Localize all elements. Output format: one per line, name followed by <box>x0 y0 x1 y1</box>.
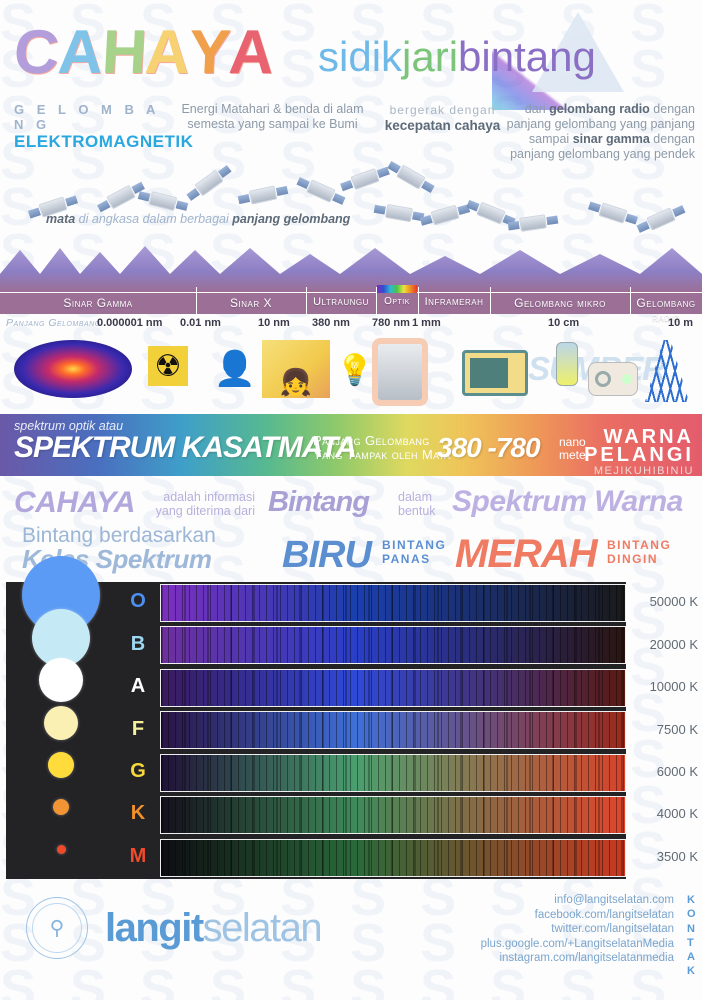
spectral-class-label-F: F <box>116 718 160 741</box>
band-divider <box>306 287 307 315</box>
bentuk-line: bentuk <box>398 504 446 518</box>
temperature-label-K: 4000 K <box>630 806 698 821</box>
contact-item[interactable]: info@langitselatan.com <box>481 893 674 908</box>
radiation-xray-icon: ☢ <box>148 346 188 386</box>
bintang-word: Bintang <box>268 486 369 519</box>
temperature-label-A: 10000 K <box>630 679 698 694</box>
brand-selatan: selatan <box>203 906 321 950</box>
absorption-lines <box>161 755 625 791</box>
radio-receiver-icon <box>588 362 638 396</box>
absorption-lines <box>161 585 625 621</box>
temperature-label-G: 6000 K <box>630 764 698 779</box>
bintang-dingin-text: BINTANG DINGIN <box>607 538 671 566</box>
spectral-class-label-O: O <box>116 590 160 613</box>
wavelength-value: 0.000001 nm <box>97 317 162 329</box>
intro-energy: Energi Matahari & benda di alam semesta … <box>175 102 370 132</box>
contact-item[interactable]: plus.google.com/+LangitselatanMedia <box>481 937 674 952</box>
satellite-icon <box>249 185 277 204</box>
panjang-gelombang-caption: Panjang Gelombang Yang Tampak oleh Mata <box>313 434 450 462</box>
contact-item[interactable]: instagram.com/langitselatanmedia <box>481 951 674 966</box>
title-letter-4: Y <box>188 22 232 84</box>
contact-list[interactable]: info@langitselatan.comfacebook.com/langi… <box>481 893 674 966</box>
wavelength-axis-label: Panjang Gelombang <box>6 317 101 329</box>
heater-icon <box>378 344 422 400</box>
visible-spectrum-banner: spektrum optik atau SPEKTRUM KASATMATA P… <box>0 414 702 476</box>
panjang-line-2: Yang Tampak oleh Mata <box>313 448 450 462</box>
satellite-icon <box>431 205 460 226</box>
absorption-lines <box>161 627 625 663</box>
satellite-icon <box>149 191 178 211</box>
band-label-gelombang-mikro: Gelombang mikro <box>490 296 630 310</box>
spektrum-kasatmata-title: SPEKTRUM KASATMATA <box>14 431 356 465</box>
mobile-phone-icon <box>556 342 578 386</box>
wavelength-value: 10 cm <box>548 317 579 329</box>
satellite-icon <box>385 204 413 222</box>
bintang-dingin-line-1: BINTANG <box>607 538 671 552</box>
galaxy-gamma-icon <box>14 340 132 398</box>
microwave-window <box>470 358 508 388</box>
wavelength-value: 780 nm <box>372 317 410 329</box>
bintang-panas-text: BINTANG PANAS <box>382 538 446 566</box>
spectrum-strip-F <box>160 711 626 749</box>
kontak-letter: A <box>687 950 696 964</box>
kontak-letter: O <box>687 907 696 921</box>
infographic-page: SSSSSSSSSSSSSSSSSSSSSSSSSSSSSSSSSSSSSSSS… <box>0 0 702 1000</box>
intro-text-row: G E L O M B A N G ELEKTROMAGNETIK Energi… <box>0 102 702 164</box>
lightbulb-icon: 💡 <box>338 348 372 392</box>
wave-graphic <box>0 244 702 292</box>
spectrum-strip-B <box>160 626 626 664</box>
radio-line-1: dari gelombang radio dengan <box>505 102 695 117</box>
title-letter-3: A <box>144 22 191 84</box>
wavelength-value: 0.01 nm <box>180 317 221 329</box>
bergerak-line: bergerak dengan <box>380 102 505 118</box>
biru-word: BIRU <box>282 534 371 577</box>
absorption-lines <box>161 670 625 706</box>
gelombang-label: G E L O M B A N G <box>14 102 174 132</box>
subtitle-word-1: jari <box>402 34 458 80</box>
page-subtitle: sidik jari bintang <box>318 34 596 80</box>
absorption-lines <box>161 712 625 748</box>
kontak-letter: K <box>687 964 696 978</box>
brand-langit: langit <box>105 906 203 950</box>
temperature-label-O: 50000 K <box>630 594 698 609</box>
intro-radio-gamma: dari gelombang radio dengan panjang gelo… <box>505 102 695 162</box>
temperature-label-F: 7500 K <box>630 722 698 737</box>
uv-sun-woman-icon: 👧 <box>262 340 330 398</box>
bintang-panas-line-1: BINTANG <box>382 538 446 552</box>
title-letter-0: C <box>12 22 59 84</box>
satellite-icon <box>646 207 675 230</box>
header: CAHAYA sidik jari bintang <box>0 0 702 100</box>
diterima-line-2: yang diterima dari <box>150 504 255 518</box>
kontak-letter: T <box>687 936 696 950</box>
adalah-informasi-text: adalah informasi yang diterima dari <box>150 490 255 518</box>
satellite-icon <box>598 202 627 223</box>
band-divider <box>630 287 631 315</box>
satellite-caption: mata di angkasa dalam berbagai panjang g… <box>46 212 350 226</box>
energi-line-2: semesta yang sampai ke Bumi <box>175 117 370 132</box>
title-letter-5: A <box>228 22 275 84</box>
kecepatan-cahaya-line: kecepatan cahaya <box>380 118 505 134</box>
star-disc-A <box>39 658 83 702</box>
intro-electromagnetic: G E L O M B A N G ELEKTROMAGNETIK <box>14 102 174 152</box>
satellite-icon <box>106 185 136 210</box>
band-label-ultraungu: Ultraungu <box>306 296 376 308</box>
satellite-icon <box>306 179 335 202</box>
wavelength-value: 1 mm <box>412 317 441 329</box>
seal-figure-icon: ⚲ <box>50 916 65 941</box>
warna-pelangi-block: WARNA PELANGI MEJIKUHIBINIU <box>584 428 694 478</box>
star-size-column <box>6 582 116 879</box>
satellite-icon <box>194 170 223 197</box>
band-divider <box>196 287 197 315</box>
spectral-class-chart: OBAFGKM 50000 K20000 K10000 K7500 K6000 … <box>0 582 702 879</box>
spectrum-strip-G <box>160 754 626 792</box>
mejikuhibiniu-label: MEJIKUHIBINIU <box>584 464 694 478</box>
title-letter-1: A <box>56 22 103 84</box>
langitselatan-seal-logo: ⚲ <box>26 897 88 959</box>
satellite-icon <box>396 164 426 189</box>
spectral-class-label-B: B <box>116 633 160 656</box>
band-label-sinar-gamma: Sinar Gamma <box>0 296 196 310</box>
subtitle-word-2: bintang <box>458 34 596 80</box>
elektromagnetik-label: ELEKTROMAGNETIK <box>14 132 174 152</box>
adalah-line-1: adalah informasi <box>150 490 255 504</box>
brand-wordmark: langitselatan <box>105 906 321 951</box>
star-disc-G <box>48 752 74 778</box>
wavelength-value: 10 nm <box>258 317 290 329</box>
source-icon-row: SUMBER ☢👤👧💡 <box>0 334 702 406</box>
band-divider <box>418 287 419 315</box>
panjang-line-1: Panjang Gelombang <box>313 434 450 448</box>
star-disc-F <box>44 706 78 740</box>
radio-line-4: panjang gelombang yang pendek <box>505 147 695 162</box>
dalam-bentuk-text: dalam bentuk <box>398 490 446 518</box>
cahaya-word: CAHAYA <box>14 486 135 520</box>
bintang-panas-line-2: PANAS <box>382 552 446 566</box>
title-letter-2: H <box>100 22 147 84</box>
spectrum-strip-K <box>160 796 626 834</box>
intro-speed: bergerak dengan kecepatan cahaya <box>380 102 505 134</box>
spectral-class-label-K: K <box>116 802 160 825</box>
spectral-class-column: OBAFGKM <box>116 582 160 879</box>
spectrum-strip-M <box>160 839 626 877</box>
footer: ⚲ langitselatan info@langitselatan.comfa… <box>0 879 702 975</box>
spectral-class-label-G: G <box>116 760 160 783</box>
energi-line-1: Energi Matahari & benda di alam <box>175 102 370 117</box>
radio-line-3: sampai sinar gamma dengan <box>505 132 695 147</box>
kontak-vertical-label: KONTAK <box>687 893 696 979</box>
microwave-pizza-icon <box>462 350 528 396</box>
radio-line-2: panjang gelombang yang panjang <box>505 117 695 132</box>
spectral-class-label-M: M <box>116 845 160 868</box>
star-disc-K <box>53 799 69 815</box>
statement-row-1: CAHAYA adalah informasi yang diterima da… <box>0 482 702 524</box>
subtitle-word-0: sidik <box>318 34 402 80</box>
temperature-label-M: 3500 K <box>630 849 698 864</box>
absorption-lines <box>161 840 625 876</box>
spectrum-strip-A <box>160 669 626 707</box>
visible-range-value: 380 -780 <box>437 432 540 464</box>
band-label-sinar-x: Sinar X <box>196 296 306 310</box>
pelangi-label: PELANGI <box>584 446 694 464</box>
optical-color-swatch <box>377 285 417 293</box>
spektrum-warna-word: Spektrum Warna <box>452 485 683 519</box>
kontak-letter: K <box>687 893 696 907</box>
star-disc-M <box>57 845 66 854</box>
temperature-column: 50000 K20000 K10000 K7500 K6000 K4000 K3… <box>630 582 702 879</box>
contact-item[interactable]: facebook.com/langitselatan <box>481 908 674 923</box>
temperature-label-B: 20000 K <box>630 637 698 652</box>
dalam-line: dalam <box>398 490 446 504</box>
band-label-inframerah: Inframerah <box>418 296 490 308</box>
wave-svg <box>0 244 702 292</box>
satellite-illustration-row: mata di angkasa dalam berbagai panjang g… <box>0 164 702 244</box>
absorption-lines <box>161 797 625 833</box>
merah-word: MERAH <box>455 532 597 577</box>
spectral-class-label-A: A <box>116 675 160 698</box>
spectrum-strip-O <box>160 584 626 622</box>
band-label-optik: Optik <box>376 296 418 307</box>
contact-item[interactable]: twitter.com/langitselatan <box>481 922 674 937</box>
satellite-icon <box>519 214 547 231</box>
wavelength-row: Panjang Gelombang 0.000001 nm0.01 nm10 n… <box>0 314 702 334</box>
wavelength-value: 10 m <box>668 317 693 329</box>
kontak-letter: N <box>687 922 696 936</box>
xray-person-icon: 👤 <box>213 344 257 394</box>
band-divider <box>490 287 491 315</box>
satellite-icon <box>476 202 505 225</box>
page-title: CAHAYA <box>14 22 273 84</box>
satellite-icon <box>350 168 379 190</box>
em-spectrum-band-bar: Sinar GammaSinar XUltraunguOptikInframer… <box>0 292 702 314</box>
wavelength-value: 380 nm <box>312 317 350 329</box>
statement-row-2: Bintang berdasarkan Kelas Spektrum BIRU … <box>0 524 702 574</box>
bintang-dingin-line-2: DINGIN <box>607 552 671 566</box>
